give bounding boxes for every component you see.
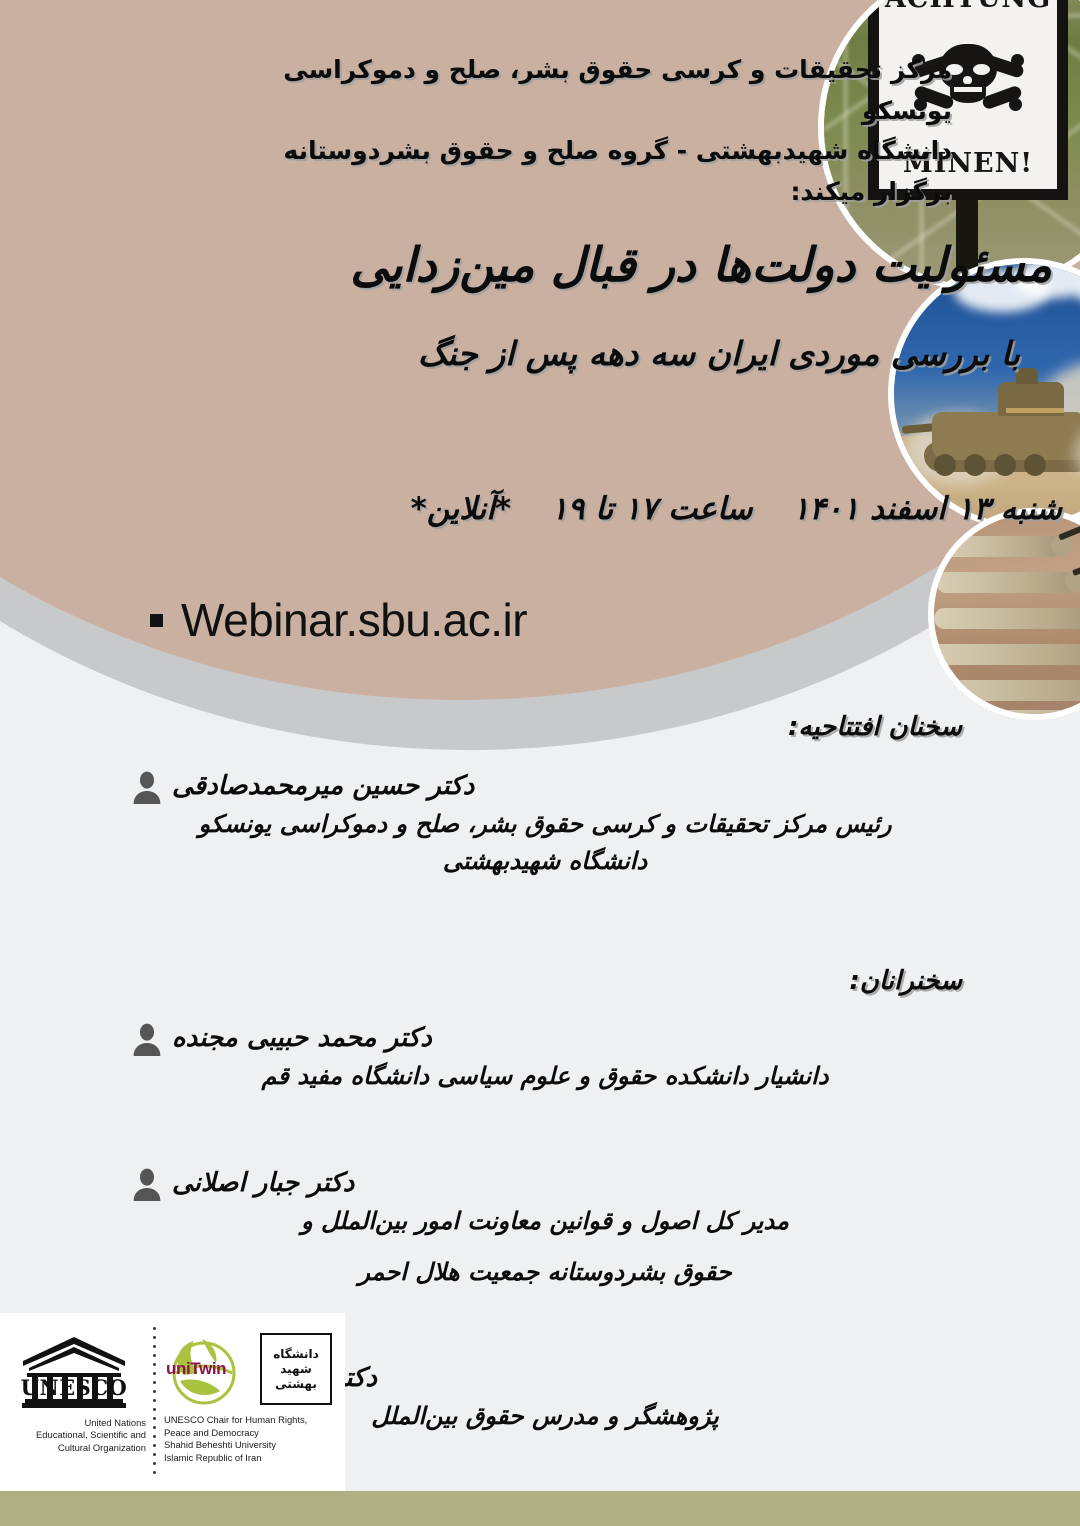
person-name: دکتر جبار اصلانی <box>172 1165 354 1203</box>
square-bullet-icon <box>150 614 163 627</box>
unesco-logo-block: UNESCO United Nations Educational, Scien… <box>0 1313 148 1454</box>
badges-row: uniTwin دانشگاه شهید بهشتی <box>164 1333 332 1407</box>
tank-wheel <box>1024 454 1046 476</box>
webinar-poster: ACHTUNG <box>0 0 1080 1526</box>
logo-panel: UNESCO United Nations Educational, Scien… <box>0 1313 345 1491</box>
unitwin-logo: uniTwin <box>164 1333 250 1407</box>
person-icon <box>130 1167 164 1201</box>
tank-hull <box>932 412 1080 460</box>
chair-caption-line: Peace and Democracy <box>164 1427 332 1440</box>
svg-text:UNESCO: UNESCO <box>21 1375 128 1400</box>
shahid-beheshti-university-seal-icon: دانشگاه شهید بهشتی <box>260 1333 332 1405</box>
soldier <box>942 536 1062 557</box>
divider-dot <box>153 1345 156 1348</box>
soldier <box>928 644 1080 665</box>
person-affiliation-line: مدیر کل اصول و قوانین معاونت امور بین‌ال… <box>130 1203 960 1240</box>
soldiers-photo <box>928 508 1080 720</box>
webinar-url-row[interactable]: Webinar.sbu.ac.ir <box>150 593 527 647</box>
event-time: ساعت ۱۷ تا ۱۹ <box>551 487 752 532</box>
divider-dot <box>153 1453 156 1456</box>
unesco-caption-line: Educational, Scientific and <box>0 1429 146 1441</box>
person-block: دکتر محمد حبیبی مجنده دانشیار دانشکده حق… <box>130 1020 960 1095</box>
divider-dot <box>153 1372 156 1375</box>
organizer-line-1: مرکز تحقیقات و کرسی حقوق بشر، صلح و دموک… <box>237 50 952 131</box>
tank-wheel <box>994 454 1016 476</box>
person-name-line: دکتر جبار اصلانی <box>130 1165 960 1203</box>
divider-dot <box>153 1426 156 1429</box>
person-affiliation-line: حقوق بشردوستانه جمعیت هلال احمر <box>130 1254 960 1291</box>
event-date: شنبه ۱۳ اسفند ۱۴۰۱ <box>792 487 1062 532</box>
divider-dot <box>153 1336 156 1339</box>
bone-knob <box>1011 54 1024 67</box>
chair-logo-block: uniTwin دانشگاه شهید بهشتی UNESCO Chair … <box>160 1313 332 1464</box>
person-name: دکتر حسین میرمحمدصادقی <box>172 768 474 806</box>
divider-dot <box>153 1417 156 1420</box>
skull-teeth <box>954 87 982 92</box>
footer-green-band <box>0 1491 1080 1526</box>
person-name-line: دکتر حسین میرمحمدصادقی <box>130 768 960 806</box>
event-datetime: شنبه ۱۳ اسفند ۱۴۰۱ ساعت ۱۷ تا ۱۹ *آنلاین… <box>222 487 1062 532</box>
opening-remarks-label: سخنان افتتاحیه: <box>362 709 962 747</box>
tank-scene <box>894 264 1080 524</box>
unesco-caption-line: Cultural Organization <box>0 1442 146 1454</box>
sbu-seal-text: دانشگاه شهید بهشتی <box>266 1339 326 1399</box>
divider-dot <box>153 1399 156 1402</box>
unesco-caption: United Nations Educational, Scientific a… <box>0 1417 148 1454</box>
person-block: دکتر حسین میرمحمدصادقی رئیس مرکز تحقیقات… <box>130 768 960 880</box>
chair-caption-line: UNESCO Chair for Human Rights, <box>164 1414 332 1427</box>
person-affiliation-line: دانشیار دانشکده حقوق و علوم سیاسی دانشگا… <box>130 1058 960 1095</box>
unesco-caption-line: United Nations <box>0 1417 146 1429</box>
bone-knob <box>1009 98 1022 111</box>
soldier <box>936 572 1076 593</box>
chair-caption-line: Islamic Republic of Iran <box>164 1452 332 1465</box>
divider-dot <box>153 1435 156 1438</box>
person-affiliation-line: رئیس مرکز تحقیقات و کرسی حقوق بشر، صلح و… <box>130 806 960 843</box>
divider-dot <box>153 1363 156 1366</box>
divider-dot <box>153 1444 156 1447</box>
divider-dot <box>153 1381 156 1384</box>
organizer-line-2: دانشگاه شهیدبهشتی - گروه صلح و حقوق بشرد… <box>237 131 952 212</box>
tank-highlight-stripe <box>1006 408 1064 413</box>
divider-dot <box>153 1327 156 1330</box>
person-block: دکتر جبار اصلانی مدیر کل اصول و قوانین م… <box>130 1165 960 1291</box>
person-icon <box>130 770 164 804</box>
divider-dot <box>153 1462 156 1465</box>
sign-top-word: ACHTUNG <box>885 0 1051 12</box>
organizer-header: مرکز تحقیقات و کرسی حقوق بشر، صلح و دموک… <box>237 50 952 212</box>
divider-dot <box>153 1471 156 1474</box>
tank-wheel <box>964 454 986 476</box>
unitwin-wordmark: uniTwin <box>166 1359 226 1379</box>
event-mode: *آنلاین* <box>411 487 511 532</box>
tank-wheel <box>934 454 956 476</box>
unitwin-wordmark-part1: uni <box>166 1359 190 1378</box>
person-icon <box>130 1022 164 1056</box>
soldiers-scene <box>934 514 1080 714</box>
skull-eye-socket <box>973 64 990 75</box>
person-name: دکتر محمد حبیبی مجنده <box>172 1020 432 1058</box>
person-affiliation-line: دانشگاه شهیدبهشتی <box>130 843 960 880</box>
soldier <box>934 608 1080 629</box>
divider-dot <box>153 1408 156 1411</box>
skull-nasal-cavity <box>963 76 972 84</box>
soldier <box>928 680 1080 701</box>
divider-dot <box>153 1390 156 1393</box>
dotted-divider <box>148 1313 160 1474</box>
speakers-label: سخنرانان: <box>362 963 962 1001</box>
webinar-url-text[interactable]: Webinar.sbu.ac.ir <box>181 593 527 647</box>
person-name-line: دکتر محمد حبیبی مجنده <box>130 1020 960 1058</box>
chair-caption-line: Shahid Beheshti University <box>164 1439 332 1452</box>
divider-dot <box>153 1354 156 1357</box>
page-title: مسئولیت دولت‌ها در قبال مین‌زدایی <box>207 232 1052 300</box>
page-subtitle: با بررسی موردی ایران سه دهه پس از جنگ <box>210 330 1020 378</box>
unitwin-wordmark-part2: Twin <box>190 1359 226 1378</box>
rifle <box>1072 558 1080 576</box>
unesco-temple-icon: UNESCO <box>15 1335 133 1411</box>
chair-caption: UNESCO Chair for Human Rights, Peace and… <box>164 1414 332 1464</box>
